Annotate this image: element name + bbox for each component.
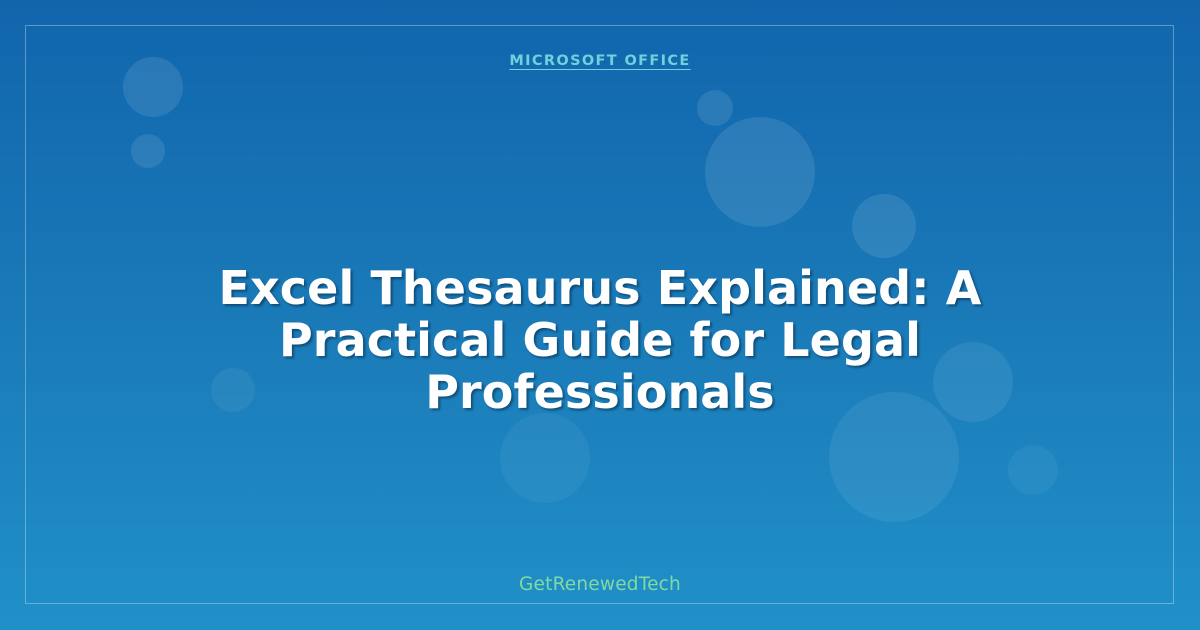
banner-content: MICROSOFT OFFICE Excel Thesaurus Explain… xyxy=(0,0,1200,630)
brand-name: GetRenewedTech xyxy=(0,574,1200,595)
category-label[interactable]: MICROSOFT OFFICE xyxy=(509,53,690,69)
title-container: Excel Thesaurus Explained: A Practical G… xyxy=(0,262,1200,418)
social-share-banner: MICROSOFT OFFICE Excel Thesaurus Explain… xyxy=(0,0,1200,630)
page-title: Excel Thesaurus Explained: A Practical G… xyxy=(100,262,1100,418)
